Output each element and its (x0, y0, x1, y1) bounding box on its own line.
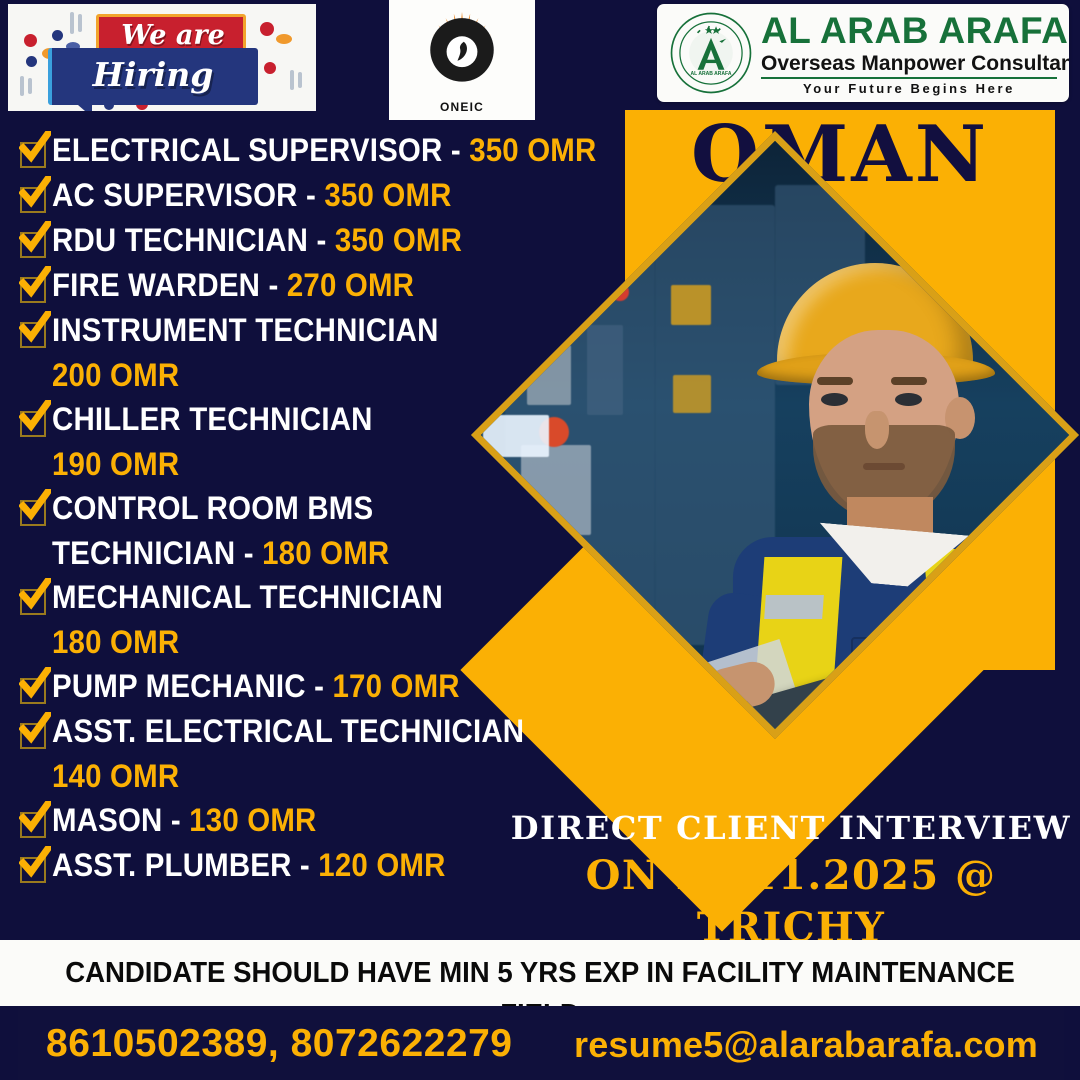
worker-nose (865, 411, 889, 449)
brand-name: AL ARAB ARAFA (761, 10, 1068, 52)
we-are-hiring-banner: We are Hiring (8, 4, 316, 111)
checkbox-checked-icon (18, 273, 52, 305)
job-salary: 130 OMR (189, 802, 316, 838)
worker-mouth (863, 463, 905, 470)
contact-phone[interactable]: 8610502389, 8072622279 (46, 1020, 512, 1068)
job-title-continued: TECHNICIAN - (52, 535, 262, 571)
contact-email[interactable]: resume5@alarabarafa.com (574, 1022, 1038, 1068)
brand-logo-box: AL ARAB ARAFA AL ARAB ARAFA Overseas Man… (657, 4, 1069, 102)
checkbox-checked-icon (18, 138, 52, 170)
interview-details: DIRECT CLIENT INTERVIEW ON 25.11.2025 @ … (508, 808, 1074, 954)
oneic-logo (416, 10, 508, 88)
job-salary: 350 OMR (469, 132, 596, 168)
job-title: ASST. PLUMBER - 120 OMR (52, 843, 446, 887)
job-salary: 190 OMR (52, 442, 591, 486)
job-list-item: INSTRUMENT TECHNICIAN200 OMR (18, 308, 638, 397)
job-list-item: RDU TECHNICIAN - 350 OMR (18, 218, 638, 262)
worker-eye-left (821, 393, 848, 406)
brand-tagline: Your Future Begins Here (761, 79, 1057, 98)
job-list-item: ASST. ELECTRICAL TECHNICIAN140 OMR (18, 709, 638, 798)
job-title: PUMP MECHANIC - 170 OMR (52, 664, 460, 708)
checkbox-checked-icon (18, 808, 52, 840)
job-salary: 200 OMR (52, 353, 591, 397)
contact-bar: 8610502389, 8072622279 resume5@alarabara… (18, 1006, 1064, 1080)
client-logo-box: ONEIC (389, 0, 535, 120)
job-salary: 350 OMR (324, 177, 451, 213)
checkbox-checked-icon (18, 407, 52, 439)
job-title: MASON - 130 OMR (52, 798, 317, 842)
recruitment-poster: OMAN (0, 0, 1080, 1080)
job-title: MECHANICAL TECHNICIAN (52, 575, 443, 619)
job-list-item: PUMP MECHANIC - 170 OMR (18, 664, 638, 708)
checkbox-checked-icon (18, 496, 52, 528)
hiring-banner-line2: Hiring (54, 50, 252, 100)
checkbox-checked-icon (18, 853, 52, 885)
job-list-item: FIRE WARDEN - 270 OMR (18, 263, 638, 307)
worker-eyebrow-right (891, 377, 927, 385)
checkbox-checked-icon (18, 318, 52, 350)
job-title: ELECTRICAL SUPERVISOR - 350 OMR (52, 128, 596, 172)
al-arab-arafa-emblem: AL ARAB ARAFA (669, 11, 753, 95)
job-list-item: MECHANICAL TECHNICIAN180 OMR (18, 575, 638, 664)
worker-eye-right (895, 393, 922, 406)
job-title: RDU TECHNICIAN - 350 OMR (52, 218, 462, 262)
job-title: CONTROL ROOM BMS (52, 486, 373, 530)
svg-text:AL ARAB ARAFA: AL ARAB ARAFA (691, 71, 732, 77)
checkbox-checked-icon (18, 183, 52, 215)
checkbox-checked-icon (18, 674, 52, 706)
worker-eyebrow-left (817, 377, 853, 385)
job-title: AC SUPERVISOR - 350 OMR (52, 173, 452, 217)
job-salary: 350 OMR (335, 222, 462, 258)
job-list-item: AC SUPERVISOR - 350 OMR (18, 173, 638, 217)
job-salary: 120 OMR (318, 847, 445, 883)
checkbox-checked-icon (18, 585, 52, 617)
job-salary: 140 OMR (52, 754, 591, 798)
interview-line2: ON 25.11.2025 @ TRICHY (508, 850, 1074, 954)
checkbox-checked-icon (18, 719, 52, 751)
job-title: FIRE WARDEN - 270 OMR (52, 263, 414, 307)
job-salary: 170 OMR (332, 668, 459, 704)
job-salary: TECHNICIAN - 180 OMR (52, 531, 591, 575)
job-title: CHILLER TECHNICIAN (52, 397, 373, 441)
country-title: OMAN (625, 112, 1055, 198)
job-list: ELECTRICAL SUPERVISOR - 350 OMRAC SUPERV… (18, 128, 638, 888)
job-list-item: CONTROL ROOM BMSTECHNICIAN - 180 OMR (18, 486, 638, 575)
job-salary: 180 OMR (52, 620, 591, 664)
job-list-item: ELECTRICAL SUPERVISOR - 350 OMR (18, 128, 638, 172)
checkbox-checked-icon (18, 228, 52, 260)
job-salary: 270 OMR (287, 267, 414, 303)
interview-line1: DIRECT CLIENT INTERVIEW (508, 808, 1074, 848)
job-list-item: CHILLER TECHNICIAN190 OMR (18, 397, 638, 486)
requirement-bar: CANDIDATE SHOULD HAVE MIN 5 YRS EXP IN F… (0, 940, 1080, 1006)
job-title: INSTRUMENT TECHNICIAN (52, 308, 439, 352)
brand-subtitle: Overseas Manpower Consultancy (761, 52, 1069, 76)
job-title: ASST. ELECTRICAL TECHNICIAN (52, 709, 524, 753)
client-logo-label: ONEIC (389, 100, 535, 114)
